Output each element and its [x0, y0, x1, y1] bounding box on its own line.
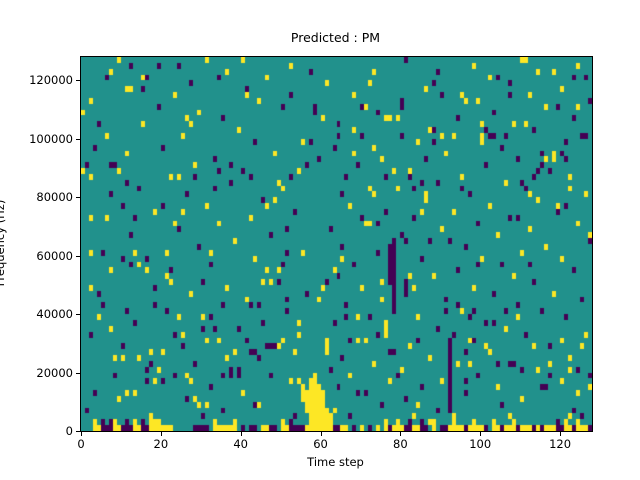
heatmap-canvas — [81, 57, 592, 431]
y-tick-label: 80000 — [36, 190, 73, 204]
y-tick — [76, 197, 80, 198]
y-tick — [76, 80, 80, 81]
matplotlib-figure: Predicted : PM 0204060801001200200004000… — [0, 0, 640, 480]
y-tick — [76, 256, 80, 257]
x-tick-label: 20 — [154, 437, 169, 451]
y-tick-label: 0 — [66, 424, 73, 438]
y-tick-label: 100000 — [29, 132, 73, 146]
x-tick — [321, 432, 322, 436]
heatmap-axes — [80, 56, 593, 432]
y-tick — [76, 373, 80, 374]
x-tick — [400, 432, 401, 436]
y-tick-label: 60000 — [36, 249, 73, 263]
x-tick-label: 0 — [77, 437, 84, 451]
x-axis-label: Time step — [80, 455, 591, 469]
y-axis-label: Frequency (Hz) — [0, 200, 7, 287]
x-tick-label: 120 — [549, 437, 571, 451]
x-tick — [560, 432, 561, 436]
x-tick-label: 100 — [469, 437, 491, 451]
x-tick-label: 80 — [393, 437, 408, 451]
y-tick-label: 120000 — [29, 73, 73, 87]
y-tick — [76, 314, 80, 315]
x-tick-label: 60 — [313, 437, 328, 451]
x-tick — [241, 432, 242, 436]
y-tick-label: 20000 — [36, 366, 73, 380]
y-tick — [76, 431, 80, 432]
x-tick — [81, 432, 82, 436]
chart-title: Predicted : PM — [80, 30, 591, 46]
y-tick — [76, 139, 80, 140]
y-tick-label: 40000 — [36, 307, 73, 321]
x-tick — [480, 432, 481, 436]
x-tick-label: 40 — [233, 437, 248, 451]
x-tick — [161, 432, 162, 436]
